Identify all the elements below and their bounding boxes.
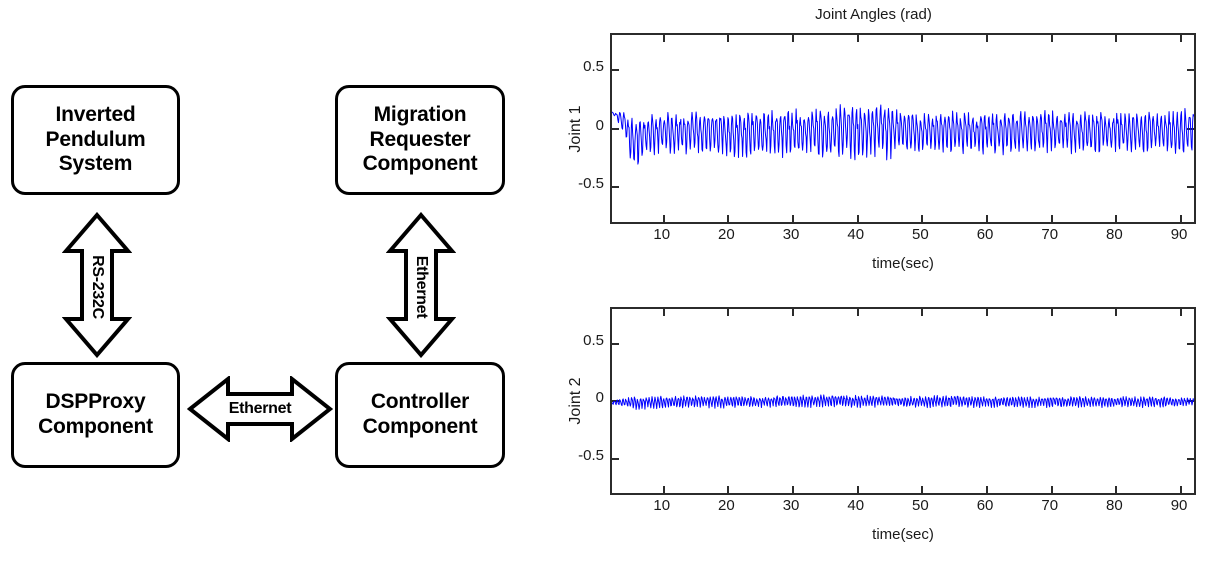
x-axis-tick-label: 30 [779, 226, 803, 243]
x-axis-tick-label: 50 [908, 226, 932, 243]
x-axis-tick-label: 10 [650, 497, 674, 514]
x-axis-tick-label: 30 [779, 497, 803, 514]
node-controller-component[interactable]: Controller Component [335, 362, 505, 468]
x-axis-tick-label: 80 [1102, 497, 1126, 514]
node-inverted-pendulum-system[interactable]: Inverted Pendulum System [11, 85, 180, 195]
y-axis-tick-label: -0.5 [564, 175, 604, 192]
y-axis-tick-label: -0.5 [564, 447, 604, 464]
joint2-axes [610, 307, 1196, 495]
ethernet-horizontal-link-label: Ethernet [187, 400, 333, 418]
x-axis-tick-label: 10 [650, 226, 674, 243]
joint2-xlabel: time(sec) [823, 526, 983, 543]
x-axis-tick-label: 20 [714, 497, 738, 514]
x-axis-tick-label: 20 [714, 226, 738, 243]
node-label: Inverted Pendulum System [46, 103, 146, 177]
node-label: Migration Requester Component [363, 103, 478, 177]
architecture-diagram: Inverted Pendulum System Migration Reque… [0, 0, 540, 562]
data-trace [612, 309, 1194, 493]
figure-title: Joint Angles (rad) [540, 6, 1207, 23]
node-label: DSPProxy Component [38, 390, 153, 440]
x-axis-tick-label: 70 [1038, 226, 1062, 243]
x-axis-tick-label: 60 [973, 497, 997, 514]
x-axis-tick-label: 40 [844, 497, 868, 514]
x-axis-tick-label: 90 [1167, 226, 1191, 243]
x-axis-tick-label: 90 [1167, 497, 1191, 514]
x-axis-tick-label: 70 [1038, 497, 1062, 514]
y-axis-tick-label: 0 [564, 117, 604, 134]
y-axis-tick-label: 0.5 [564, 332, 604, 349]
joint1-axes [610, 33, 1196, 224]
joint-angles-figure: Joint Angles (rad) Joint 1 time(sec) Joi… [540, 0, 1207, 562]
node-dspproxy-component[interactable]: DSPProxy Component [11, 362, 180, 468]
ethernet-vertical-link-label: Ethernet [412, 250, 430, 324]
node-label: Controller Component [363, 390, 478, 440]
rs232c-link-label: RS-232C [88, 250, 106, 324]
x-axis-tick-label: 60 [973, 226, 997, 243]
node-migration-requester-component[interactable]: Migration Requester Component [335, 85, 505, 195]
x-axis-tick-label: 40 [844, 226, 868, 243]
x-axis-tick-label: 50 [908, 497, 932, 514]
x-axis-tick-label: 80 [1102, 226, 1126, 243]
y-axis-tick-label: 0 [564, 389, 604, 406]
data-trace [612, 35, 1194, 222]
y-axis-tick-label: 0.5 [564, 58, 604, 75]
joint1-xlabel: time(sec) [823, 255, 983, 272]
